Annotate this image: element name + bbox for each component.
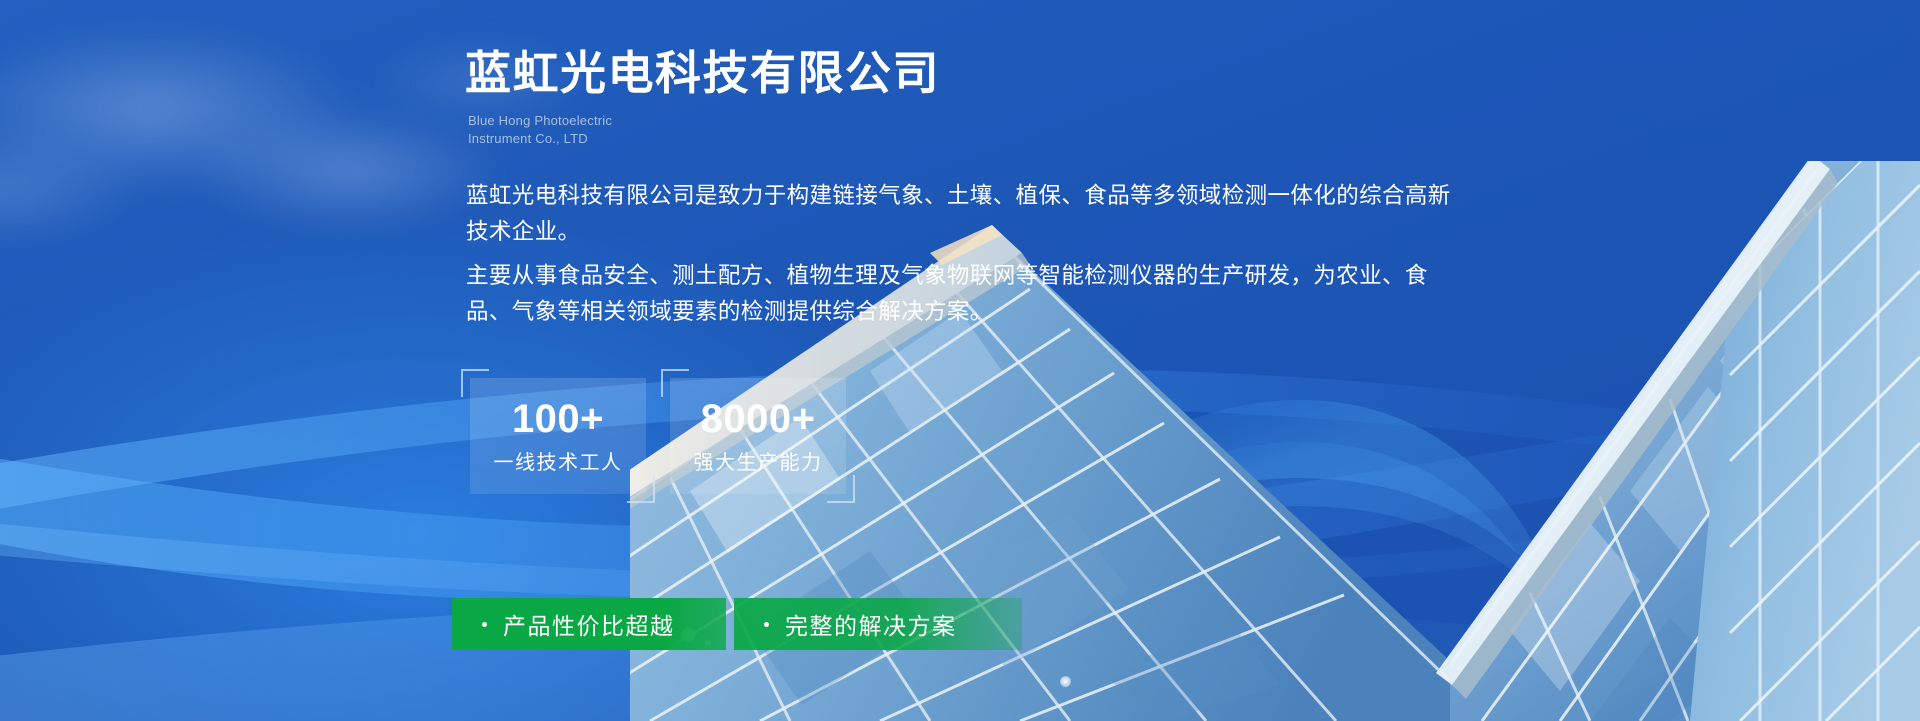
stat-card-capacity: 8000+ 强大生产能力	[670, 378, 846, 494]
company-name-en-line2: Instrument Co., LTD	[468, 130, 612, 148]
company-hero-banner: 蓝虹光电科技有限公司 Blue Hong Photoelectric Instr…	[0, 0, 1920, 721]
stat-caption-capacity: 强大生产能力	[694, 453, 823, 473]
company-description-paragraph-1: 蓝虹光电科技有限公司是致力于构建链接气象、土壤、植保、食品等多领域检测一体化的综…	[466, 178, 1456, 249]
bullet-dot-icon	[482, 622, 487, 627]
stat-value-workers: 100+	[512, 399, 604, 439]
feature-tag-complete-solution-label: 完整的解决方案	[785, 607, 957, 641]
stat-caption-workers: 一线技术工人	[494, 453, 623, 473]
company-name-cn: 蓝虹光电科技有限公司	[465, 46, 940, 100]
bullet-dot-icon	[764, 622, 769, 627]
feature-tag-complete-solution: 完整的解决方案	[734, 598, 1022, 650]
company-name-en: Blue Hong Photoelectric Instrument Co., …	[468, 112, 612, 149]
banner-content: 蓝虹光电科技有限公司 Blue Hong Photoelectric Instr…	[0, 0, 1920, 721]
company-description-paragraph-2: 主要从事食品安全、测土配方、植物生理及气象物联网等智能检测仪器的生产研发，为农业…	[466, 258, 1456, 329]
feature-tag-price-performance: 产品性价比超越	[452, 598, 726, 650]
stats-group: 100+ 一线技术工人 8000+ 强大生产能力	[470, 378, 846, 494]
company-name-en-line1: Blue Hong Photoelectric	[468, 112, 612, 130]
feature-tags-group: 产品性价比超越 完整的解决方案	[452, 598, 1022, 650]
stat-value-capacity: 8000+	[701, 399, 816, 439]
stat-card-workers: 100+ 一线技术工人	[470, 378, 646, 494]
feature-tag-price-performance-label: 产品性价比超越	[503, 607, 675, 641]
